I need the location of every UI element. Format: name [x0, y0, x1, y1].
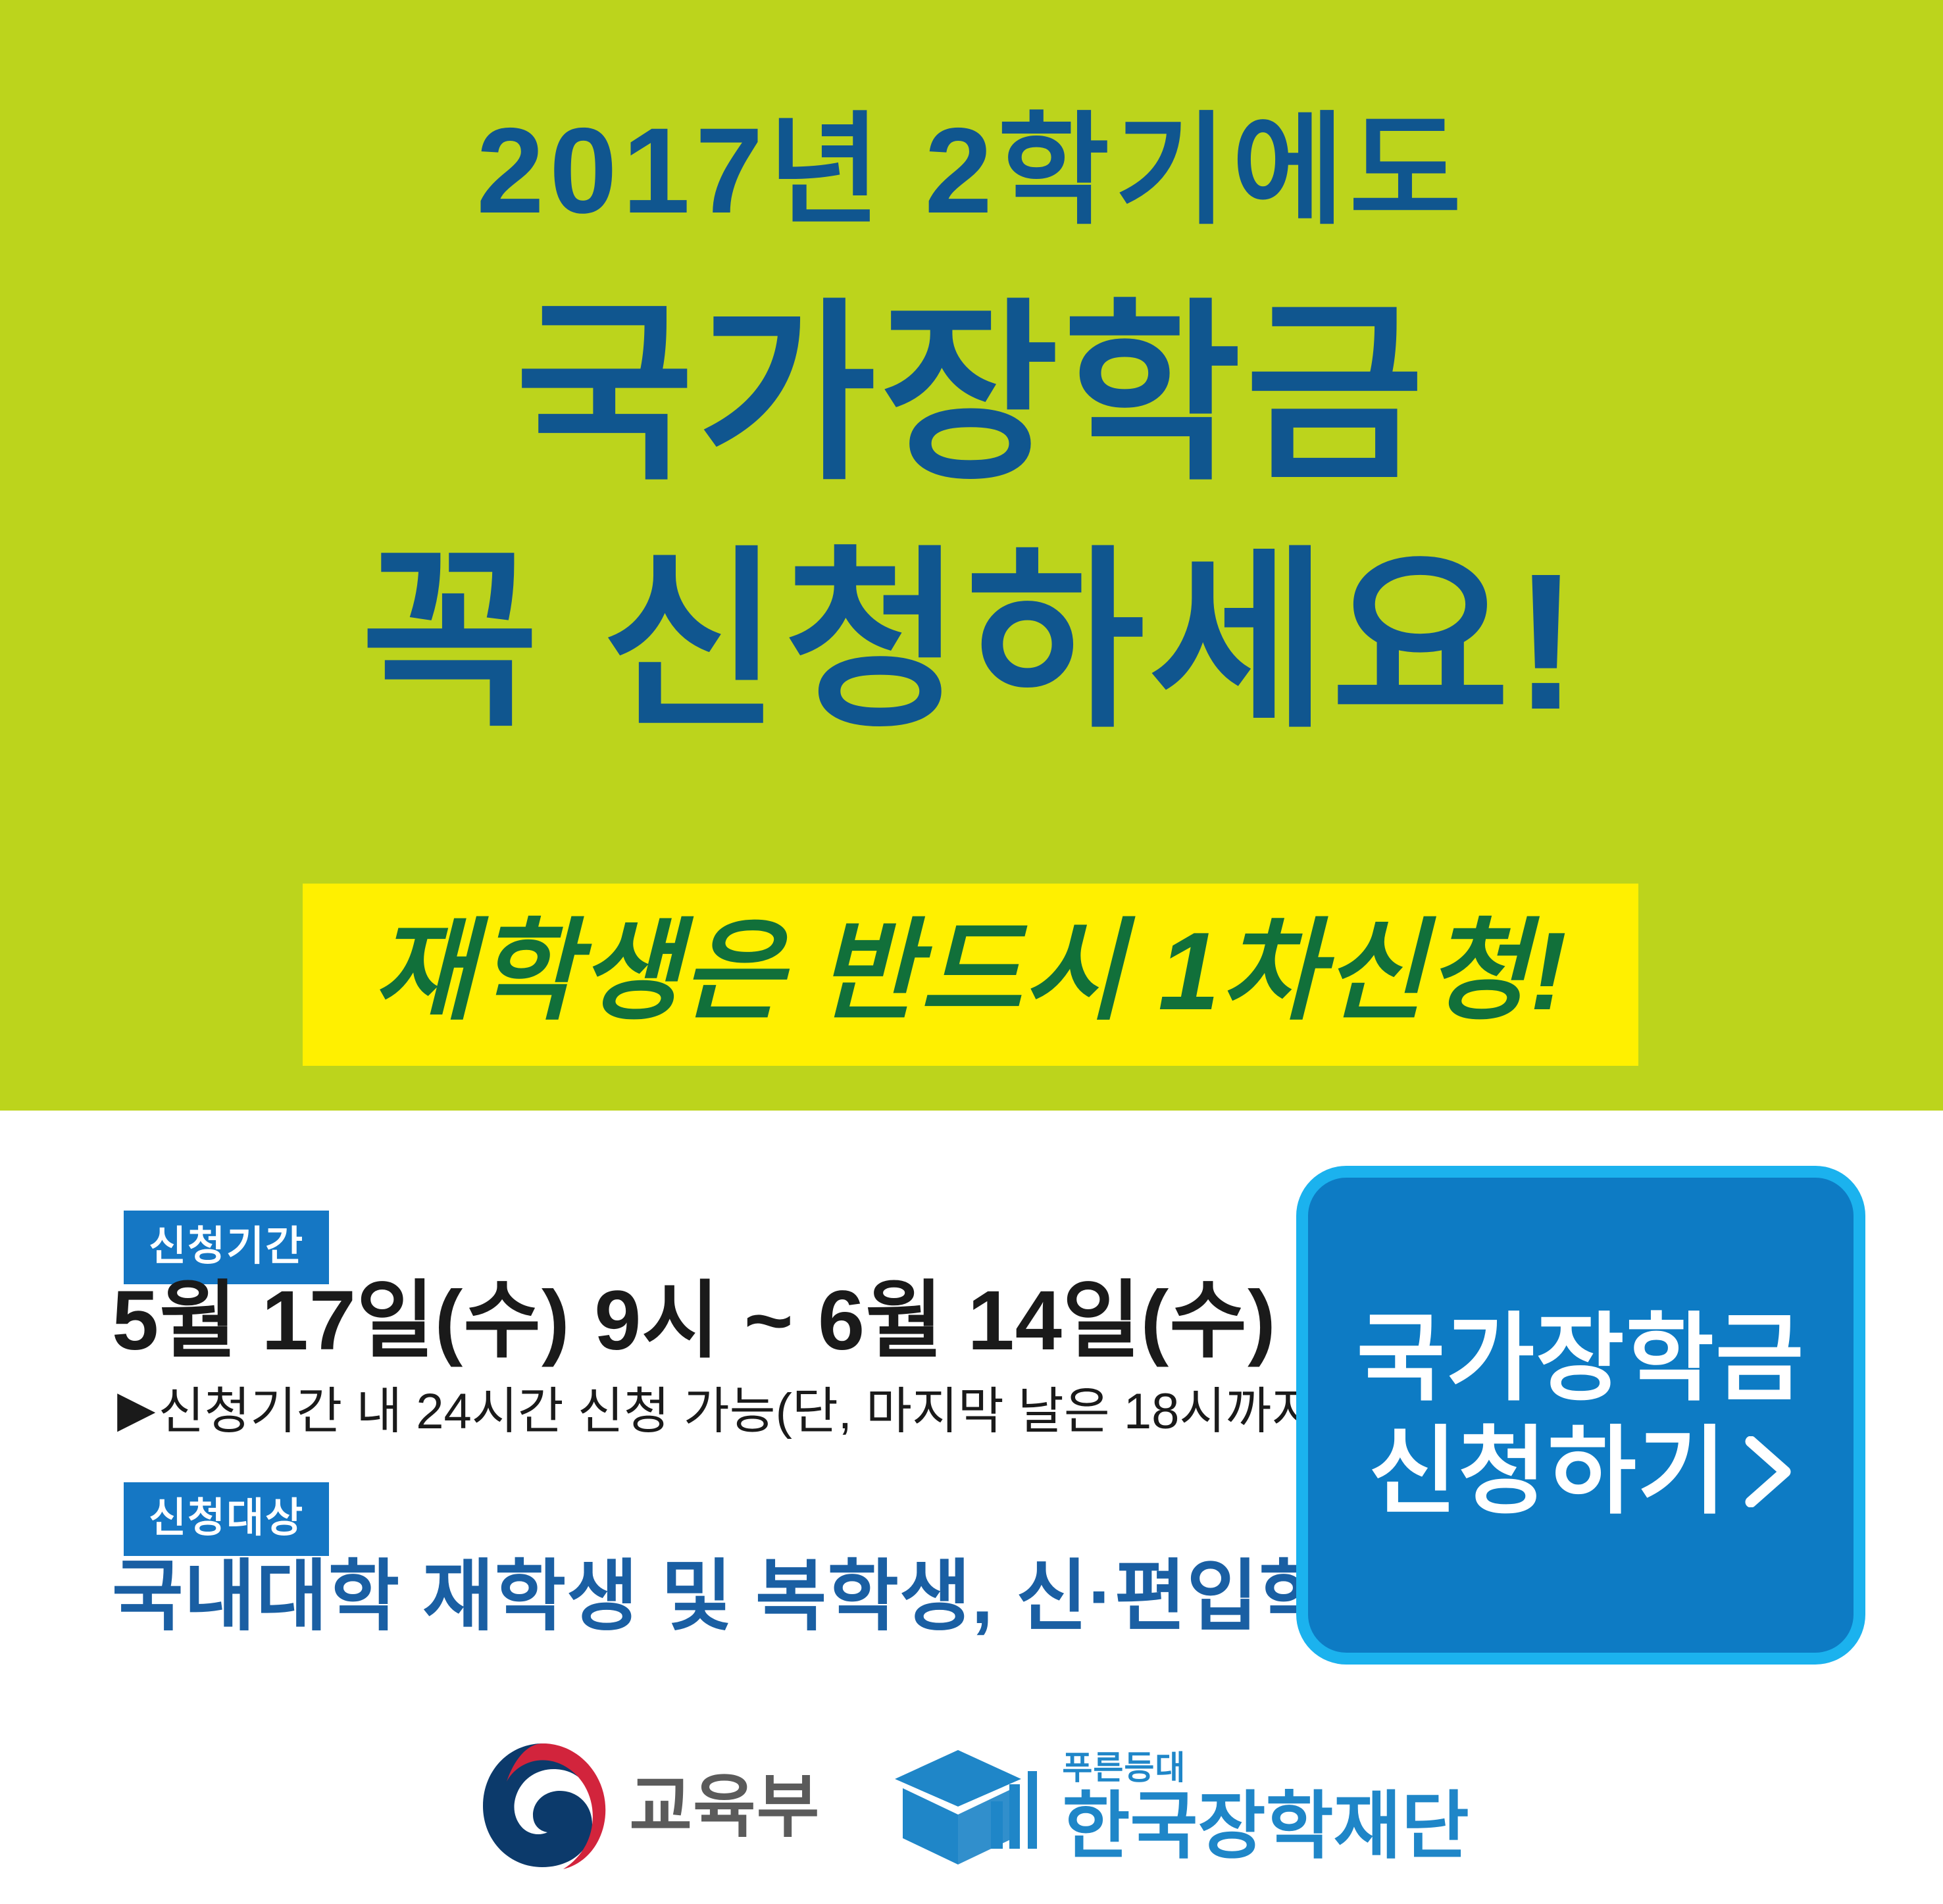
- application-period-value: 5월 17일(수) 9시 ~ 6월 14일(수) 18시: [112, 1279, 1473, 1363]
- application-period-note-text: 신청기간 내 24시간 신청 가능(단, 마지막 날은 18시까지): [158, 1384, 1334, 1440]
- triangle-right-icon: ▶: [117, 1384, 155, 1434]
- kosaf-tagline: 푸른등대: [1062, 1751, 1469, 1784]
- hero-title-line-1: 국가장학금: [0, 297, 1943, 491]
- hero-kicker-text: 2017년 2학기에도: [0, 111, 1943, 232]
- kosaf-name: 한국장학재단: [1062, 1790, 1469, 1863]
- hero-title-line-2: 꼭 신청하세요!: [0, 545, 1943, 739]
- hero-banner: 2017년 2학기에도 국가장학금 꼭 신청하세요! 재학생은 반드시 1차신청…: [0, 0, 1943, 1111]
- apply-scholarship-button[interactable]: 국가장학금 신청하기: [1296, 1166, 1865, 1665]
- scholarship-promo-poster: 2017년 2학기에도 국가장학금 꼭 신청하세요! 재학생은 반드시 1차신청…: [0, 0, 1943, 1904]
- chevron-right-icon: [1744, 1436, 1793, 1507]
- graduation-cap-icon: [892, 1738, 1045, 1876]
- ministry-of-education-label: 교육부: [629, 1773, 820, 1841]
- kosaf-logo: 푸른등대 한국장학재단: [892, 1738, 1469, 1876]
- korea-government-taegeuk-icon: [474, 1738, 612, 1876]
- apply-button-label-row: 신청하기: [1369, 1415, 1793, 1528]
- highlight-callout-text: 재학생은 반드시 1차신청!: [373, 916, 1568, 1026]
- application-target-value: 국내대학 재학생 및 복학생, 신·편입학생: [112, 1558, 1403, 1636]
- footer-logos: 교육부 푸른등대 한국장학재단: [0, 1711, 1943, 1904]
- apply-button-label-line-1: 국가장학금: [1357, 1302, 1805, 1415]
- kosaf-wordmark: 푸른등대 한국장학재단: [1062, 1751, 1469, 1863]
- ministry-of-education-logo: 교육부: [474, 1738, 820, 1876]
- application-target-badge: 신청대상: [124, 1482, 329, 1556]
- application-period-note: ▶신청기간 내 24시간 신청 가능(단, 마지막 날은 18시까지): [117, 1387, 1334, 1437]
- apply-button-label-line-2: 신청하기: [1369, 1415, 1727, 1528]
- highlight-callout-bar: 재학생은 반드시 1차신청!: [303, 884, 1638, 1066]
